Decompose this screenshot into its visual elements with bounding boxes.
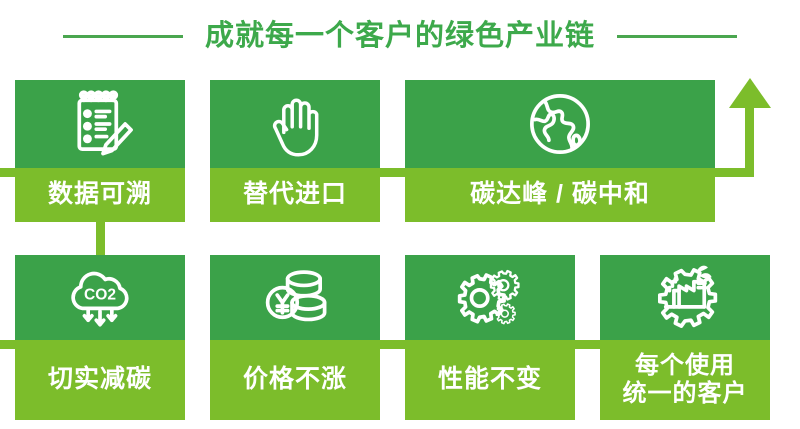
card-icon-panel	[15, 80, 185, 168]
infographic-canvas: 成就每一个客户的绿色产业链	[0, 0, 800, 429]
card-unified-customers[interactable]: 每个使用 统一的客户	[600, 255, 770, 420]
co2-cloud-down-arrows-icon: CO2	[63, 261, 137, 335]
up-arrow-icon	[729, 78, 771, 108]
card-label-line-1: 每个使用	[623, 352, 748, 380]
card-label: 数据可溯	[15, 168, 185, 222]
card-import-substitution[interactable]: 替代进口	[210, 80, 380, 222]
card-label-line-2: 统一的客户	[623, 380, 748, 408]
arrow-shaft	[745, 104, 754, 174]
globe-earth-icon	[523, 87, 597, 161]
page-title: 成就每一个客户的绿色产业链	[205, 22, 595, 51]
raised-hand-icon	[260, 89, 330, 159]
card-icon-panel: CO2	[15, 255, 185, 340]
card-label: 碳达峰 / 碳中和	[405, 168, 715, 222]
coin-stack-yuan-icon	[258, 261, 332, 335]
svg-text:CO2: CO2	[84, 286, 116, 303]
card-label: 切实减碳	[15, 340, 185, 420]
card-label: 每个使用 统一的客户	[600, 340, 770, 420]
card-label: 价格不涨	[210, 340, 380, 420]
clipboard-checklist-pencil-icon	[63, 87, 137, 161]
card-icon-panel	[210, 80, 380, 168]
connector-row2-card3-left-stub	[378, 340, 408, 349]
card-real-carbon-reduction[interactable]: CO2 切实减碳	[15, 255, 185, 420]
card-carbon-peak-neutrality[interactable]: 碳达峰 / 碳中和	[405, 80, 715, 222]
card-icon-panel	[210, 255, 380, 340]
title-row: 成就每一个客户的绿色产业链	[0, 14, 800, 58]
connector-row1-card1-to-row2	[96, 222, 105, 258]
card-label-stack: 每个使用 统一的客户	[623, 352, 748, 409]
title-rule-right	[617, 35, 737, 38]
card-icon-panel	[600, 255, 770, 340]
card-price-unchanged[interactable]: 价格不涨	[210, 255, 380, 420]
connector-row1-card3-left-stub	[378, 168, 408, 177]
card-label: 性能不变	[405, 340, 575, 420]
card-data-traceable[interactable]: 数据可溯	[15, 80, 185, 222]
gears-icon	[453, 261, 527, 335]
card-icon-panel	[405, 80, 715, 168]
title-rule-left	[63, 35, 183, 38]
factory-in-gear-icon	[648, 261, 722, 335]
card-icon-panel	[405, 255, 575, 340]
card-label: 替代进口	[210, 168, 380, 222]
card-performance-unchanged[interactable]: 性能不变	[405, 255, 575, 420]
